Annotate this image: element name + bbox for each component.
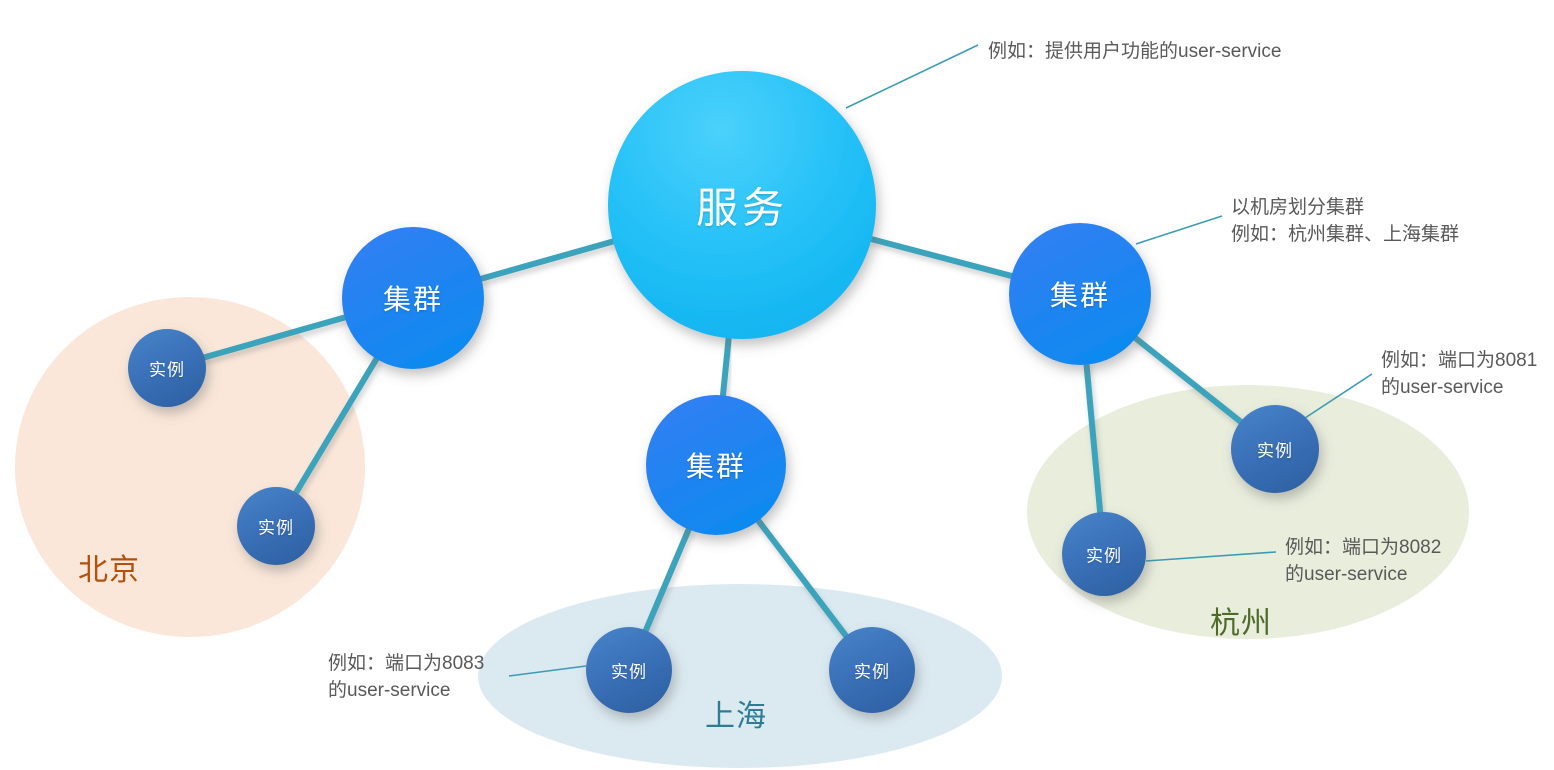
annotation-cluster: 以机房划分集群 例如：杭州集群、上海集群 xyxy=(1231,195,1459,249)
annotation-instance-8082: 例如：端口为8082 的user-service xyxy=(1285,535,1441,589)
node-service[interactable] xyxy=(608,71,876,339)
node-instance-beijing-1[interactable] xyxy=(128,329,206,407)
edge-service-cluster-shanghai xyxy=(723,335,729,398)
region-label-shanghai: 上海 xyxy=(705,691,767,735)
annotation-cluster-leader-line xyxy=(1136,216,1222,244)
diagram-canvas: 北京上海杭州 服务集群集群集群实例实例实例实例实例实例 例如：提供用户功能的us… xyxy=(0,0,1554,770)
node-instance-beijing-2[interactable] xyxy=(237,487,315,565)
region-shanghai xyxy=(478,584,1002,768)
node-instance-hangzhou-2[interactable] xyxy=(1062,512,1146,596)
edge-service-cluster-hangzhou xyxy=(869,238,1015,276)
annotation-service-leader-line xyxy=(846,45,978,108)
diagram-graphic xyxy=(0,0,1554,770)
annotation-instance-8081: 例如：端口为8081 的user-service xyxy=(1381,348,1537,402)
region-label-hangzhou: 杭州 xyxy=(1210,598,1272,642)
region-label-beijing: 北京 xyxy=(78,545,140,589)
node-instance-shanghai-2[interactable] xyxy=(829,627,915,713)
node-cluster-shanghai[interactable] xyxy=(646,395,786,535)
edge-service-cluster-beijing xyxy=(478,241,616,280)
node-instance-shanghai-1[interactable] xyxy=(586,627,672,713)
annotation-instance-8083: 例如：端口为8083 的user-service xyxy=(328,651,484,705)
node-instance-hangzhou-1[interactable] xyxy=(1231,405,1319,493)
annotation-service: 例如：提供用户功能的user-service xyxy=(988,39,1281,66)
node-cluster-hangzhou[interactable] xyxy=(1009,223,1151,365)
node-cluster-beijing[interactable] xyxy=(342,227,484,369)
